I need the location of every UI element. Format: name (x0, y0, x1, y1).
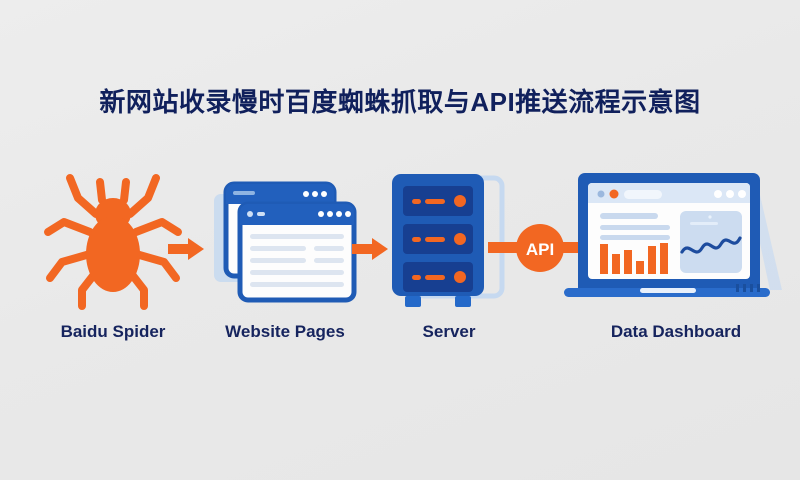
browser-dot-1 (598, 191, 605, 198)
node-data-dashboard (560, 164, 790, 314)
node-label-data-dashboard: Data Dashboard (560, 322, 792, 342)
laptop-trackpad-notch (640, 288, 696, 293)
diagram-canvas: 新网站收录慢时百度蜘蛛抓取与API推送流程示意图 (0, 0, 800, 480)
laptop-dashboard-icon (560, 164, 792, 314)
server-unit-3 (403, 262, 473, 292)
browser-windows-icon (208, 170, 363, 310)
page-title: 新网站收录慢时百度蜘蛛抓取与API推送流程示意图 (0, 82, 800, 119)
arrow-right-icon (168, 236, 206, 262)
server-unit-2 (403, 224, 473, 254)
arrow-right-icon (352, 236, 390, 262)
browser-dot-2 (610, 190, 619, 199)
server-unit-1 (403, 186, 473, 216)
dashboard-line-chart (680, 211, 742, 273)
spider-icon (38, 170, 188, 310)
arrow-spider-to-pages (168, 236, 206, 262)
node-label-website-pages: Website Pages (200, 322, 370, 342)
node-website-pages (208, 170, 363, 310)
browser-window-front (240, 204, 354, 300)
node-baidu-spider (38, 170, 188, 310)
api-badge-label: API (526, 240, 554, 259)
arrow-pages-to-server (352, 236, 390, 262)
node-label-baidu-spider: Baidu Spider (38, 322, 188, 342)
node-label-server: Server (385, 322, 513, 342)
browser-address-bar (624, 190, 662, 199)
